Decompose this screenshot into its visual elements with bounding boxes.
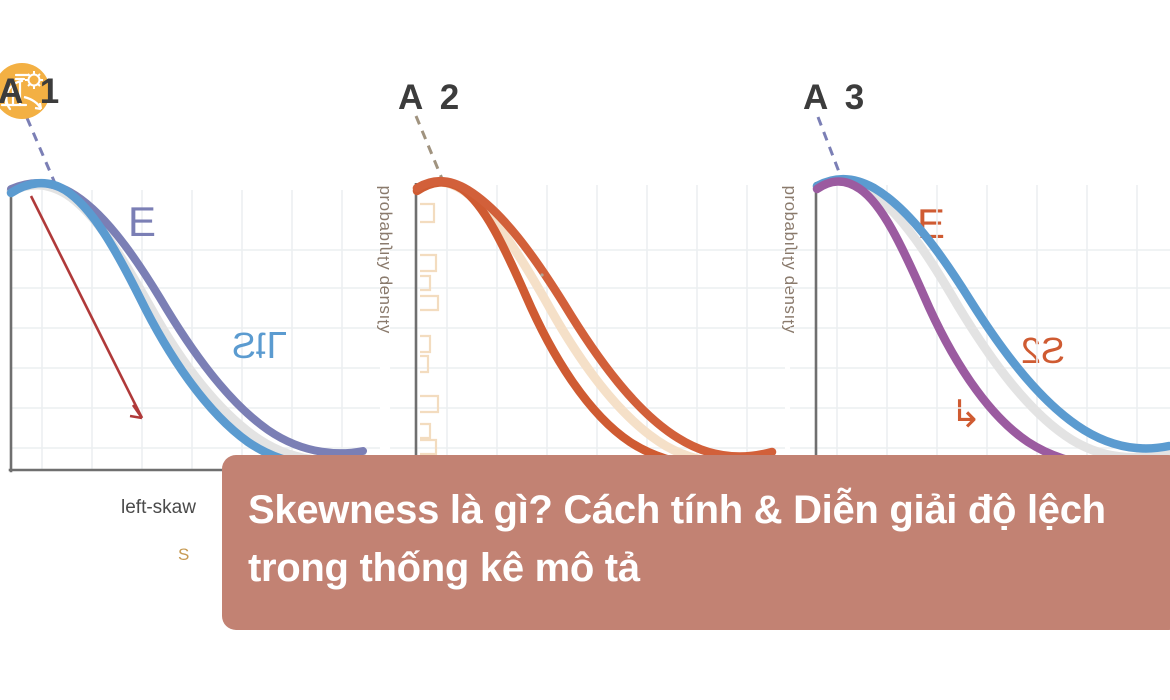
chart-1-glyph-top: Ǝ xyxy=(128,198,156,246)
chart-2-title: A 2 xyxy=(398,78,463,118)
chart-1-glyph-mid: ⅂ʇS xyxy=(232,325,286,367)
chart-2-curve-orange-inner xyxy=(417,182,770,467)
chart-2-leader-line xyxy=(416,116,445,186)
chart-1-x-axis-sublabel: S xyxy=(178,545,189,565)
chart-1-decline-arrow xyxy=(31,196,142,418)
banner-title-text: Skewness là gì? Cách tính & Diễn giải độ… xyxy=(248,481,1158,597)
chart-1-x-axis-label: left-skaw xyxy=(121,497,196,519)
chart-1-curve-gray xyxy=(11,185,362,461)
chart-1-curve-blue xyxy=(11,183,364,466)
chart-2-gridlines xyxy=(390,185,785,470)
chart-3-title: A 3 xyxy=(803,78,868,118)
chart-1-gridlines xyxy=(12,190,380,470)
chart-2-dot-artifact xyxy=(540,273,543,276)
chart-1-title: A 1 xyxy=(0,72,63,112)
chart-2-tick-labels xyxy=(420,204,438,454)
chart-1-curve-purple xyxy=(11,183,363,453)
chart-3-curve-purple xyxy=(817,181,1168,467)
chart-2-curve-cream xyxy=(417,182,770,463)
chart-3-gridlines xyxy=(790,185,1170,470)
title-banner: Skewness là gì? Cách tính & Diễn giải độ… xyxy=(222,455,1170,630)
chart-1-leader-line xyxy=(27,118,57,188)
thumbnail-canvas: Ǝ ⅂ʇS A 1 ʎʇısuǝp ʎʇıʅıqɐqoɹd left-skaw … xyxy=(0,0,1170,700)
chart-3-leader-line xyxy=(818,117,844,185)
